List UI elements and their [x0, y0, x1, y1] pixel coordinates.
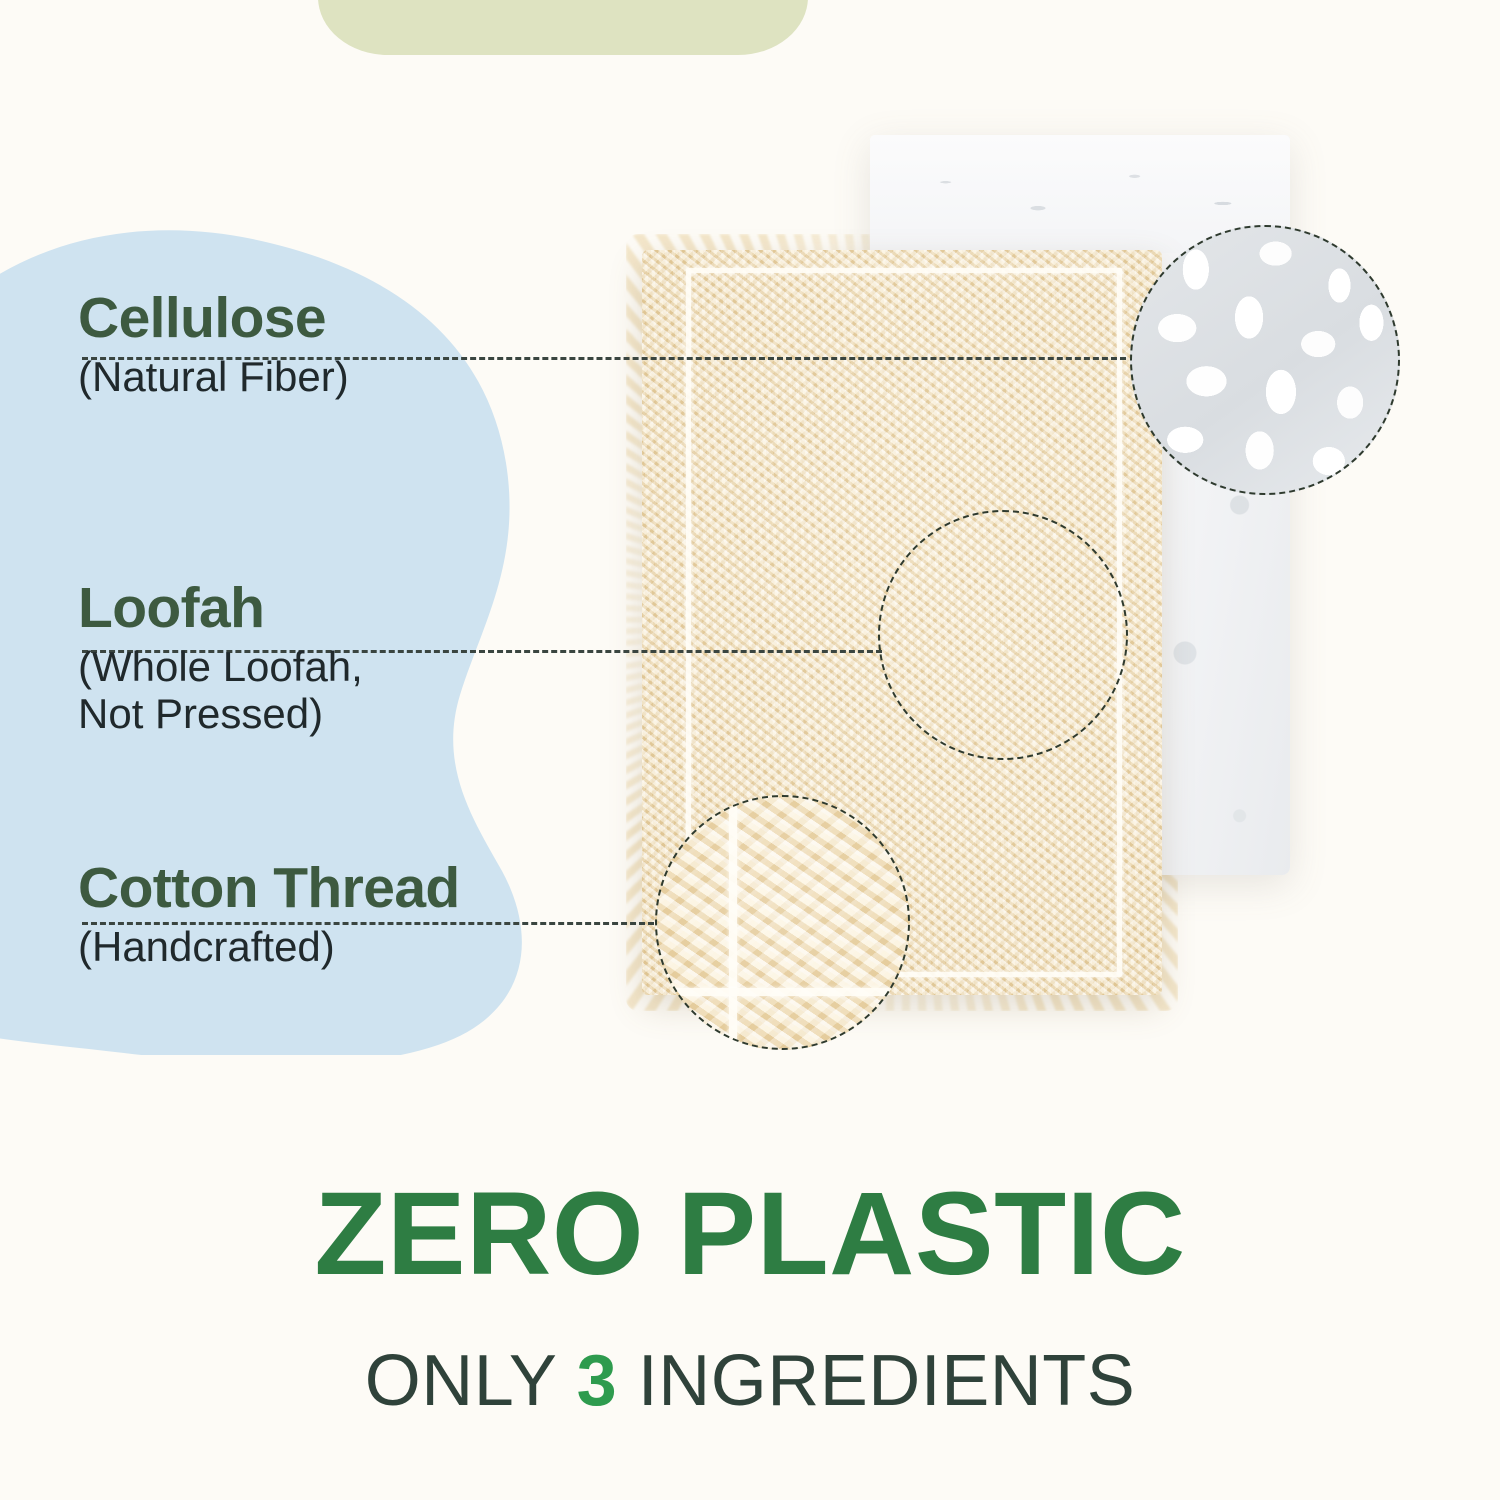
- cotton-thread-vertical: [729, 797, 737, 1048]
- zoom-circle-cotton-thread: [655, 795, 910, 1050]
- callout-loofah[interactable]: Loofah (Whole Loofah, Not Pressed): [78, 580, 363, 737]
- sage-blob-decoration: [318, 0, 808, 55]
- callout-loofah-subtitle: (Whole Loofah, Not Pressed): [78, 643, 363, 737]
- infographic-canvas: Cellulose (Natural Fiber) Loofah (Whole …: [0, 0, 1500, 1500]
- callout-cotton-thread-title: Cotton Thread: [78, 860, 460, 917]
- callout-cellulose-subtitle: (Natural Fiber): [78, 353, 349, 400]
- cotton-thread-horizontal: [657, 988, 908, 996]
- headline-zero-plastic: ZERO PLASTIC: [0, 1175, 1500, 1293]
- zoom-circle-loofah-weave: [878, 510, 1128, 760]
- subheadline-ingredients: ONLY 3 INGREDIENTS: [0, 1345, 1500, 1417]
- subheadline-count: 3: [577, 1341, 618, 1421]
- footer-headline-block: ZERO PLASTIC ONLY 3 INGREDIENTS: [0, 1175, 1500, 1417]
- subheadline-suffix: INGREDIENTS: [617, 1341, 1135, 1421]
- callout-cellulose[interactable]: Cellulose (Natural Fiber): [78, 290, 349, 400]
- subheadline-prefix: ONLY: [365, 1341, 577, 1421]
- product-photo-stage: [600, 110, 1500, 1090]
- callout-cotton-thread[interactable]: Cotton Thread (Handcrafted): [78, 860, 460, 970]
- zoom-circle-cellulose-pores: [1130, 225, 1400, 495]
- callout-cotton-thread-subtitle: (Handcrafted): [78, 923, 460, 970]
- callout-loofah-title: Loofah: [78, 580, 363, 637]
- cotton-stitch-top: [686, 268, 1122, 273]
- callout-cellulose-title: Cellulose: [78, 290, 349, 347]
